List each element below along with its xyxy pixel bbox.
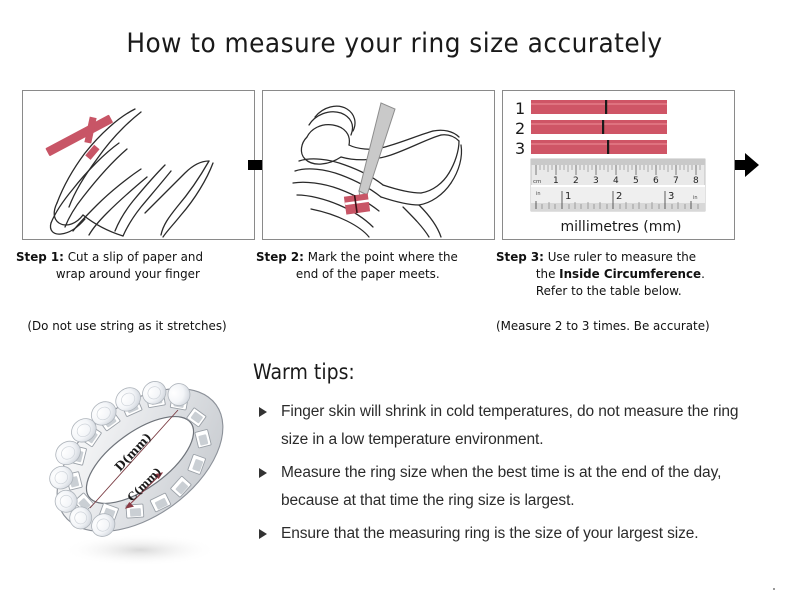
warm-tip-2-text: Measure the ring size when the best time… bbox=[281, 464, 721, 509]
strip-number-2: 2 bbox=[515, 119, 525, 138]
step-1-panel bbox=[22, 90, 255, 240]
step-3-note: (Measure 2 to 3 times. Be accurate) bbox=[496, 318, 729, 333]
step-3-panel: 1 2 3 bbox=[502, 90, 735, 240]
step-2-caption-text: Step 2: Mark the point where the end of … bbox=[256, 248, 489, 282]
step-captions-row: Step 1: Cut a slip of paper and wrap aro… bbox=[0, 248, 789, 343]
step-3-line1: Use ruler to measure the bbox=[548, 249, 696, 264]
cm-tick-5: 5 bbox=[633, 176, 639, 186]
ruler-with-strips-icon: 1 2 3 bbox=[503, 91, 734, 239]
step-3-line2-tail: . bbox=[701, 266, 705, 281]
step-1-caption: Step 1: Cut a slip of paper and wrap aro… bbox=[16, 248, 261, 333]
warm-tip-1-text: Finger skin will shrink in cold temperat… bbox=[281, 403, 738, 448]
ruler-caption: millimetres (mm) bbox=[561, 219, 682, 235]
inch-tick-3: 3 bbox=[668, 191, 674, 202]
step-3-caption: Step 3: Use ruler to measure the the Ins… bbox=[496, 248, 741, 333]
cm-tick-3: 3 bbox=[593, 176, 599, 186]
measured-strip-1 bbox=[531, 100, 667, 114]
bottom-section: D(mm) C(mm) Warm tips: Finger skin will … bbox=[0, 348, 789, 606]
step-3-label: Step 3: bbox=[496, 249, 544, 264]
step-3-caption-text: Step 3: Use ruler to measure the the Ins… bbox=[496, 248, 729, 299]
triangle-bullet-icon bbox=[259, 407, 267, 417]
step-2-line2: end of the paper meets. bbox=[256, 265, 489, 282]
step-1-line1: Cut a slip of paper and bbox=[68, 249, 203, 264]
inch-unit-label-left: in bbox=[536, 191, 541, 197]
step-1-label: Step 1: bbox=[16, 249, 64, 264]
strip-number-1: 1 bbox=[515, 99, 525, 118]
warm-tip-3: Ensure that the measuring ring is the si… bbox=[253, 520, 763, 548]
step-1-note: (Do not use string as it stretches) bbox=[16, 318, 249, 333]
measured-strip-2 bbox=[531, 120, 667, 134]
inch-tick-2: 2 bbox=[616, 191, 622, 202]
step-2-line1: Mark the point where the bbox=[308, 249, 458, 264]
step-3-line3: Refer to the table below. bbox=[496, 282, 729, 299]
step-2-illustration-box bbox=[262, 90, 495, 240]
measured-strip-3 bbox=[531, 140, 667, 154]
step-3-line2-prefix: the bbox=[536, 266, 559, 281]
cm-tick-4: 4 bbox=[613, 176, 619, 186]
hand-with-paper-strip-icon bbox=[23, 91, 254, 239]
cm-tick-7: 7 bbox=[673, 176, 679, 186]
step-2-caption: Step 2: Mark the point where the end of … bbox=[256, 248, 501, 282]
step-3-inside-circumference: Inside Circumference bbox=[559, 266, 701, 281]
step-2-panel bbox=[262, 90, 495, 240]
inch-unit-label-right: in bbox=[693, 195, 698, 201]
cm-unit-label: cm bbox=[533, 179, 541, 185]
hand-marking-paper-icon bbox=[263, 91, 494, 239]
warm-tip-3-text: Ensure that the measuring ring is the si… bbox=[281, 525, 698, 542]
warm-tip-1: Finger skin will shrink in cold temperat… bbox=[253, 398, 763, 454]
ruler-graphic: 1 2 3 4 5 6 7 8 cm 1 2 3 bbox=[531, 159, 705, 211]
stray-dot bbox=[773, 588, 775, 590]
warm-tips-block: Warm tips: Finger skin will shrink in co… bbox=[253, 360, 763, 553]
step-1-caption-text: Step 1: Cut a slip of paper and wrap aro… bbox=[16, 248, 249, 282]
eternity-ring-icon: D(mm) C(mm) bbox=[28, 360, 253, 575]
page-title: How to measure your ring size accurately bbox=[32, 28, 758, 59]
step-1-illustration-box bbox=[22, 90, 255, 240]
triangle-bullet-icon bbox=[259, 468, 267, 478]
cm-tick-2: 2 bbox=[573, 176, 579, 186]
step-2-label: Step 2: bbox=[256, 249, 304, 264]
warm-tip-2: Measure the ring size when the best time… bbox=[253, 459, 763, 515]
inch-tick-1: 1 bbox=[565, 191, 571, 202]
paper-band-marked bbox=[344, 193, 370, 214]
ring-diagram: D(mm) C(mm) bbox=[28, 360, 253, 575]
step-1-line2: wrap around your finger bbox=[16, 265, 249, 282]
cm-tick-8: 8 bbox=[693, 176, 699, 186]
warm-tips-heading: Warm tips: bbox=[253, 360, 712, 384]
step-3-illustration-box: 1 2 3 bbox=[502, 90, 735, 240]
strip-number-3: 3 bbox=[515, 139, 525, 158]
cm-tick-6: 6 bbox=[653, 176, 659, 186]
step-illustrations-row: 1 2 3 bbox=[0, 90, 789, 240]
triangle-bullet-icon bbox=[259, 529, 267, 539]
cm-tick-1: 1 bbox=[553, 176, 559, 186]
